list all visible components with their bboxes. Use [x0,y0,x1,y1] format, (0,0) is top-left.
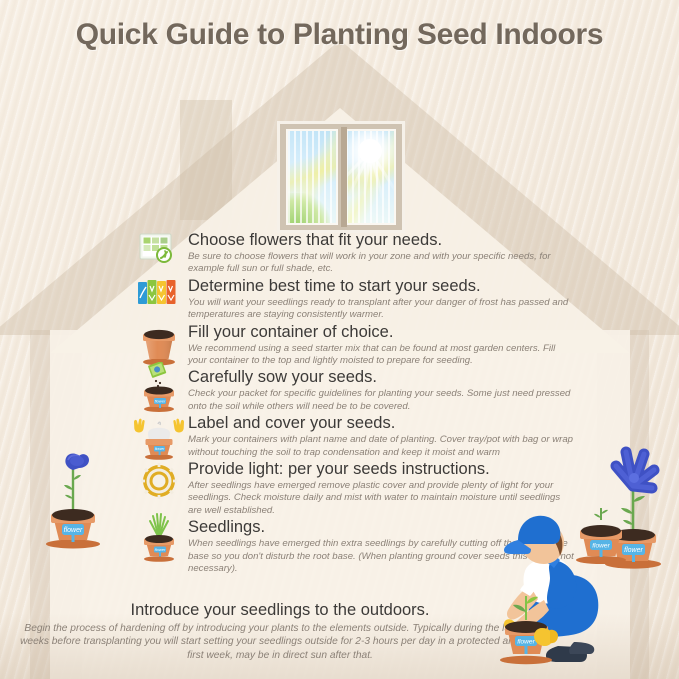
svg-text:flower: flower [517,639,535,646]
window-pane-right [344,129,396,225]
svg-text:flower: flower [155,547,166,552]
svg-text:flower: flower [592,543,610,550]
step-item: flower Label and cover your seeds. Mark … [136,414,576,459]
step-body: We recommend using a seed starter mix th… [188,343,576,368]
filled-pot-icon [136,323,182,367]
page-title: Quick Guide to Planting Seed Indoors [0,18,679,52]
window-pane-left [286,129,338,225]
footer-body: Begin the process of hardening off by in… [20,622,540,662]
step-heading: Choose flowers that fit your needs. [188,231,576,250]
seed-catalog-icon [136,231,182,275]
footer-block: Introduce your seedlings to the outdoors… [20,600,540,662]
window-blinds-right [346,131,394,223]
svg-text:flower: flower [155,399,166,404]
step-body: Be sure to choose flowers that will work… [188,251,576,276]
step-heading: Determine best time to start your seeds. [188,277,576,296]
blue-flower-right [616,452,654,488]
footer-heading: Introduce your seedlings to the outdoors… [20,600,540,620]
step-body: You will want your seedlings ready to tr… [188,297,576,322]
seedlings-pot-icon: flower [136,508,182,562]
step-body: Check your packet for specific guideline… [188,388,576,413]
window-blinds-left [288,131,336,223]
gardener-glove-lower [534,628,558,646]
step-heading: Label and cover your seeds. [188,414,576,433]
step-body: Mark your containers with plant name and… [188,434,576,459]
kneeling-gardener-illustration: flower [470,500,679,679]
step-item: Choose flowers that fit your needs. Be s… [136,231,576,276]
svg-text:flower: flower [155,447,165,451]
step-heading: Carefully sow your seeds. [188,368,576,387]
blue-flower-left [65,454,89,470]
step-heading: Fill your container of choice. [188,323,576,342]
svg-text:flower: flower [64,527,83,534]
light-ring-icon [136,460,182,504]
step-item: flower Carefully sow your seeds. Check y… [136,368,576,413]
house-chimney [180,100,232,220]
step-heading: Provide light: per your seeds instructio… [188,460,576,479]
seed-packets-icon [136,277,182,321]
step-item: Determine best time to start your seeds.… [136,277,576,322]
glove-left [134,419,145,433]
sowing-seeds-icon: flower [136,362,182,412]
step-item: Fill your container of choice. We recomm… [136,323,576,368]
covered-pot-with-gloves-icon: flower [132,414,186,458]
blue-flower-pot-left: flower [42,420,104,550]
sunlit-window [277,121,405,233]
window-mullion [341,127,347,227]
infographic-poster: Quick Guide to Planting Seed Indoors [0,0,679,679]
glove-right [173,419,184,433]
gardener-shelf-pot: flower [576,508,626,564]
